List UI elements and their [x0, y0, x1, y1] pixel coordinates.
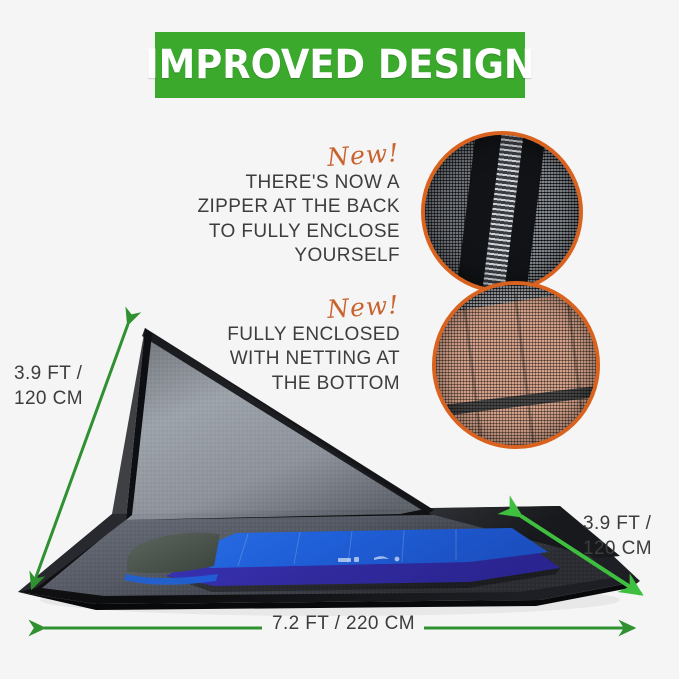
photo-netting-detail [432, 281, 600, 449]
photo-vignette [425, 135, 579, 289]
photo-zipper-detail [421, 131, 583, 293]
callout-netting: New! FULLY ENCLOSED WITH NETTING AT THE … [170, 292, 400, 396]
width-dimension-label: 7.2 FT / 220 CM [272, 612, 415, 637]
callout-zipper-text: THERE'S NOW A ZIPPER AT THE BACK TO FULL… [170, 171, 400, 268]
banner-title: IMPROVED DESIGN [145, 45, 535, 85]
improved-design-banner: IMPROVED DESIGN [155, 32, 525, 98]
callout-zipper: New! THERE'S NOW A ZIPPER AT THE BACK TO… [170, 140, 400, 268]
photo-vignette [436, 285, 596, 445]
depth-dimension-label: 3.9 FT / 120 CM [583, 512, 652, 561]
height-dimension-label: 3.9 FT / 120 CM [14, 362, 83, 411]
infographic-canvas: IMPROVED DESIGN [0, 0, 679, 679]
callout-netting-text: FULLY ENCLOSED WITH NETTING AT THE BOTTO… [170, 323, 400, 396]
